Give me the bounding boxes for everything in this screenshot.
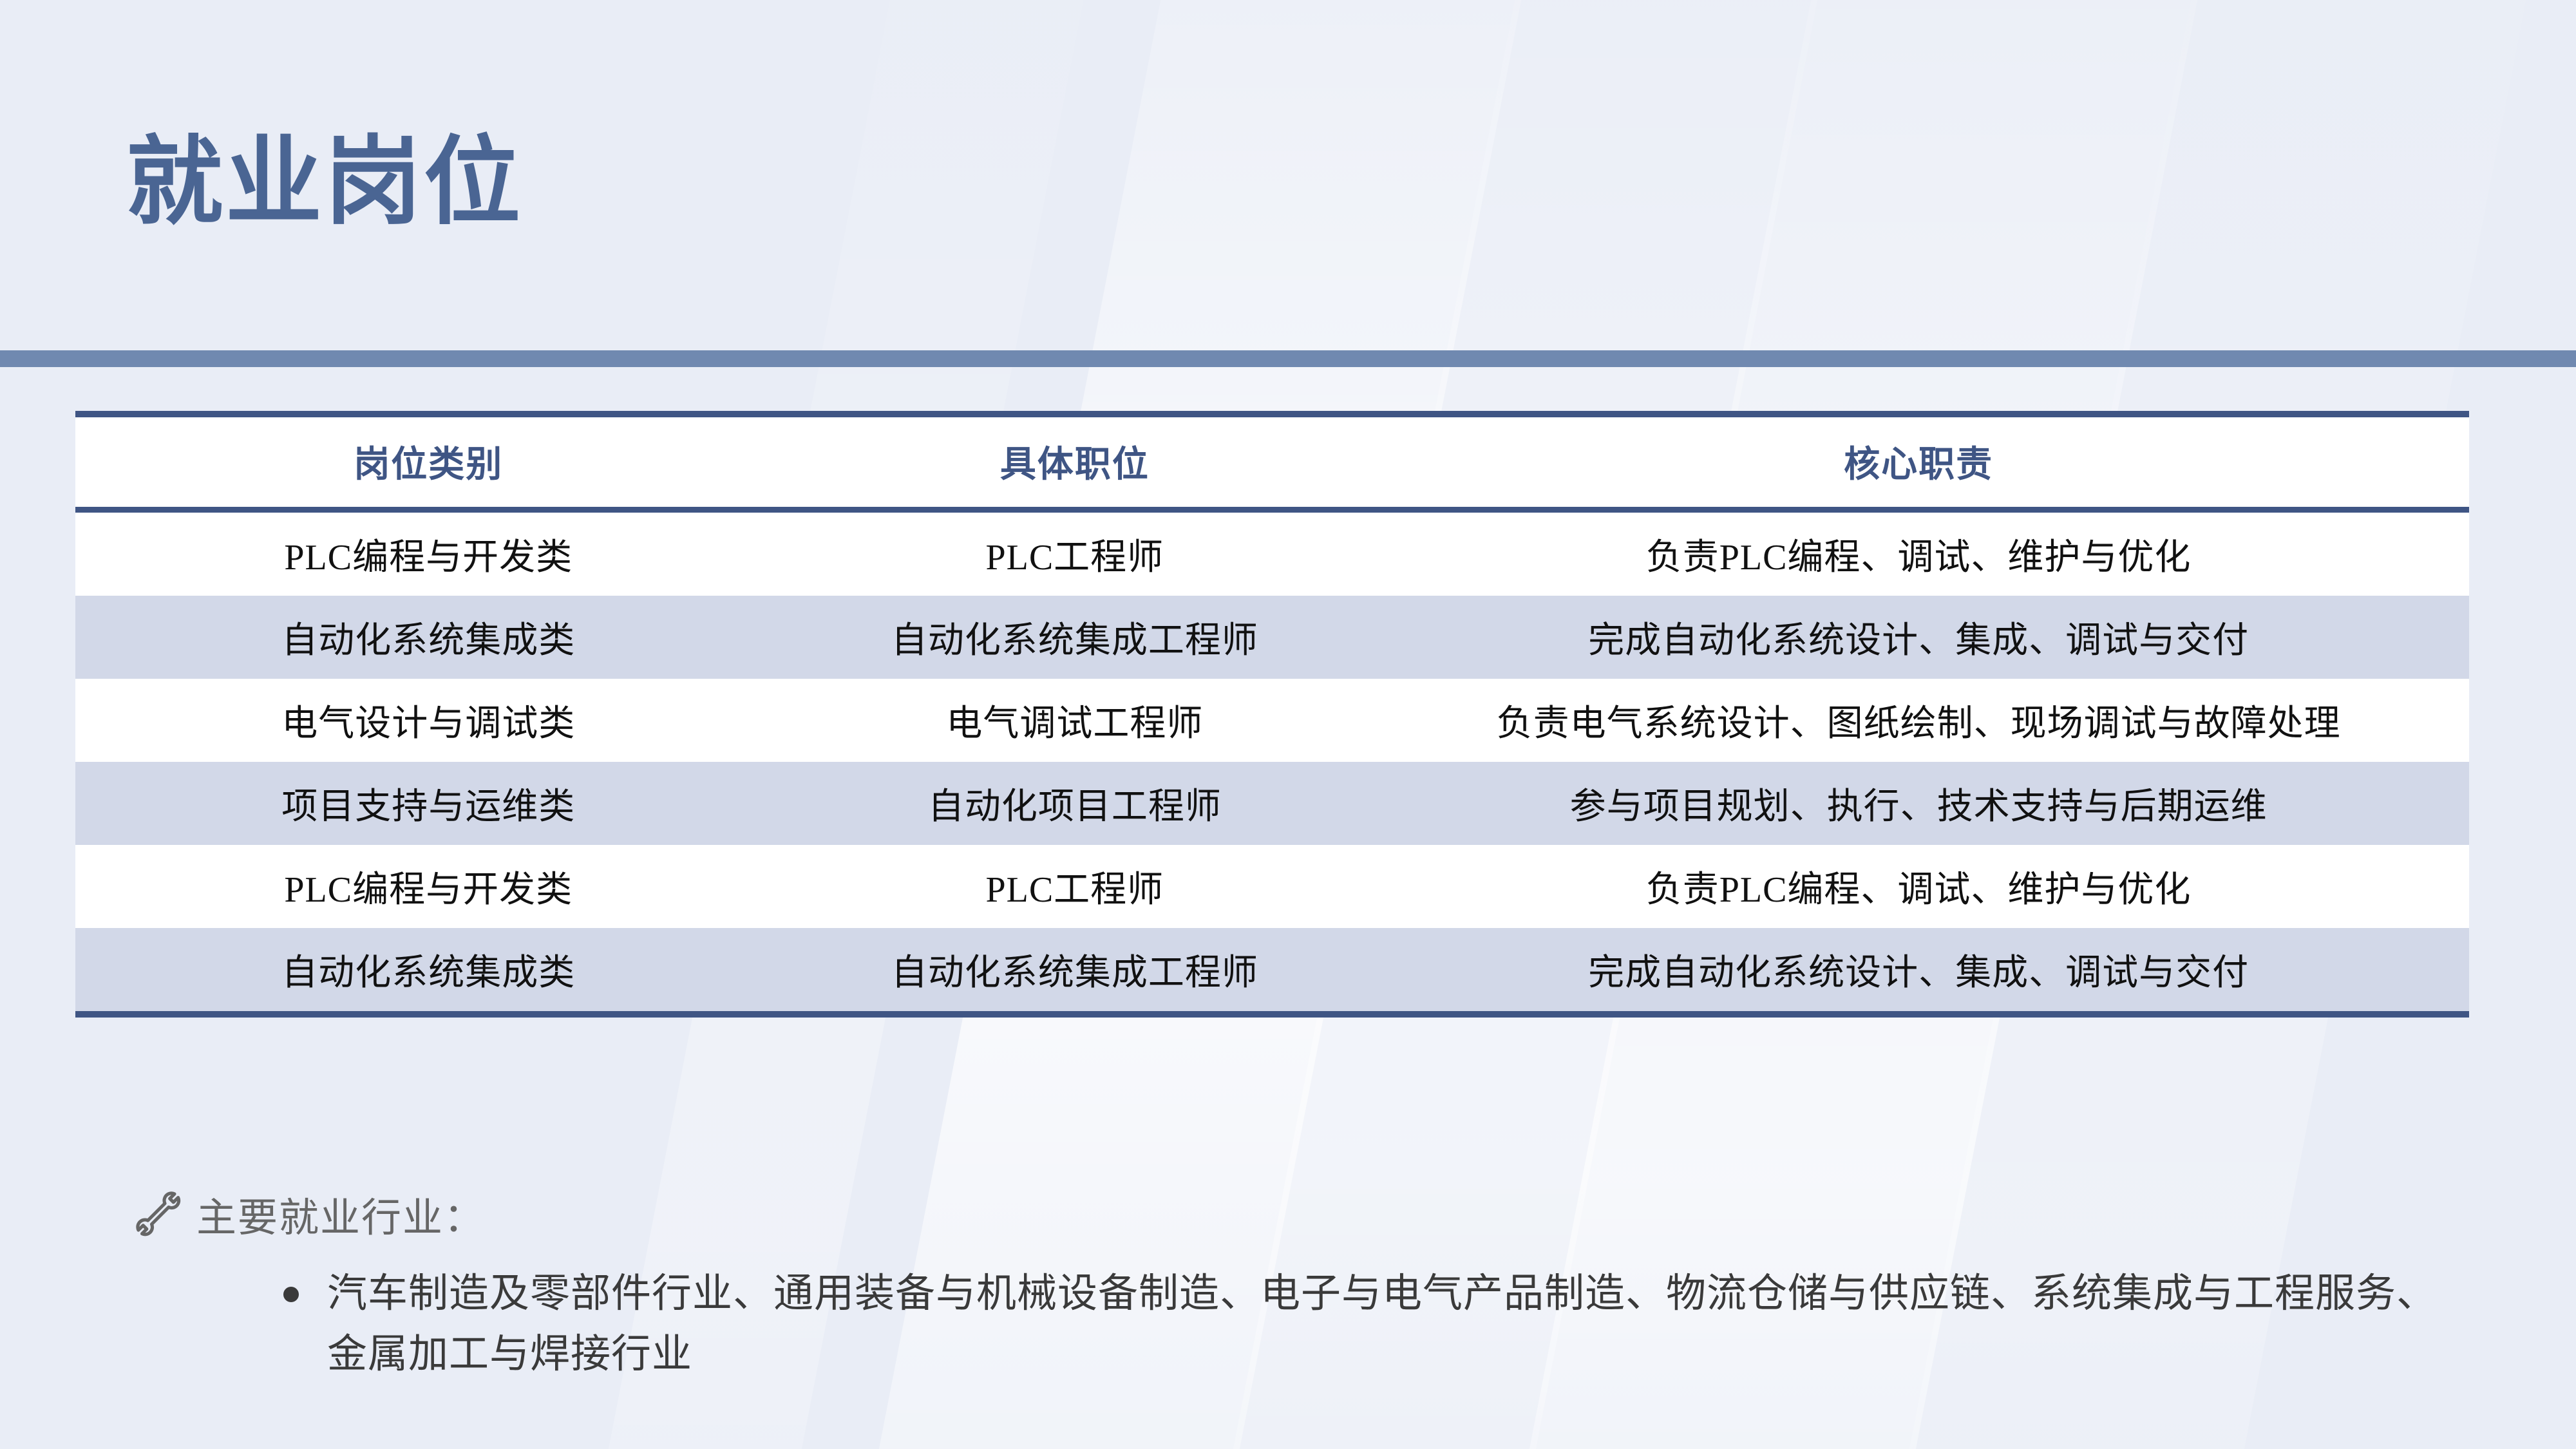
cell-category: PLC编程与开发类 — [75, 845, 782, 928]
column-header-category: 岗位类别 — [75, 414, 782, 510]
cell-position: PLC工程师 — [782, 845, 1368, 928]
cell-duties: 完成自动化系统设计、集成、调试与交付 — [1368, 596, 2469, 679]
table-row: PLC编程与开发类 PLC工程师 负责PLC编程、调试、维护与优化 — [75, 845, 2469, 928]
cell-position: 自动化项目工程师 — [782, 762, 1368, 845]
table-row: 电气设计与调试类 电气调试工程师 负责电气系统设计、图纸绘制、现场调试与故障处理 — [75, 679, 2469, 762]
table-header-row: 岗位类别 具体职位 核心职责 — [75, 414, 2469, 510]
table-row: 自动化系统集成类 自动化系统集成工程师 完成自动化系统设计、集成、调试与交付 — [75, 596, 2469, 679]
cell-position: 自动化系统集成工程师 — [782, 596, 1368, 679]
cell-duties: 负责PLC编程、调试、维护与优化 — [1368, 845, 2469, 928]
header-divider — [0, 350, 2576, 367]
wrench-icon — [133, 1189, 184, 1239]
table-header: 岗位类别 具体职位 核心职责 — [75, 414, 2469, 510]
cell-position: 自动化系统集成工程师 — [782, 928, 1368, 1014]
cell-category: 自动化系统集成类 — [75, 596, 782, 679]
table-row: 项目支持与运维类 自动化项目工程师 参与项目规划、执行、技术支持与后期运维 — [75, 762, 2469, 845]
column-header-duties: 核心职责 — [1368, 414, 2469, 510]
industry-note-label: 主要就业行业： — [196, 1185, 485, 1243]
column-header-position: 具体职位 — [782, 414, 1368, 510]
page-title: 就业岗位 — [126, 128, 523, 236]
jobs-table: 岗位类别 具体职位 核心职责 PLC编程与开发类 PLC工程师 负责PLC编程、… — [75, 411, 2469, 1018]
jobs-table-container: 岗位类别 具体职位 核心职责 PLC编程与开发类 PLC工程师 负责PLC编程、… — [75, 411, 2469, 1018]
cell-category: 项目支持与运维类 — [75, 762, 782, 845]
industry-list-text: 汽车制造及零部件行业、通用装备与机械设备制造、电子与电气产品制造、物流仓储与供应… — [327, 1264, 2460, 1385]
cell-duties: 负责PLC编程、调试、维护与优化 — [1368, 510, 2469, 596]
cell-duties: 负责电气系统设计、图纸绘制、现场调试与故障处理 — [1368, 679, 2469, 762]
table-row: 自动化系统集成类 自动化系统集成工程师 完成自动化系统设计、集成、调试与交付 — [75, 928, 2469, 1014]
cell-category: PLC编程与开发类 — [75, 510, 782, 596]
cell-duties: 参与项目规划、执行、技术支持与后期运维 — [1368, 762, 2469, 845]
industry-list-item: 汽车制造及零部件行业、通用装备与机械设备制造、电子与电气产品制造、物流仓储与供应… — [283, 1264, 2460, 1385]
bullet-dot-icon — [283, 1287, 299, 1302]
cell-position: 电气调试工程师 — [782, 679, 1368, 762]
cell-duties: 完成自动化系统设计、集成、调试与交付 — [1368, 928, 2469, 1014]
cell-category: 自动化系统集成类 — [75, 928, 782, 1014]
table-body: PLC编程与开发类 PLC工程师 负责PLC编程、调试、维护与优化 自动化系统集… — [75, 510, 2469, 1015]
table-row: PLC编程与开发类 PLC工程师 负责PLC编程、调试、维护与优化 — [75, 510, 2469, 596]
cell-category: 电气设计与调试类 — [75, 679, 782, 762]
cell-position: PLC工程师 — [782, 510, 1368, 596]
slide-root: 就业岗位 岗位类别 具体职位 核心职责 PLC编程与开发类 PLC工程师 负责P… — [0, 0, 2576, 1449]
industry-note: 主要就业行业： — [133, 1185, 485, 1243]
